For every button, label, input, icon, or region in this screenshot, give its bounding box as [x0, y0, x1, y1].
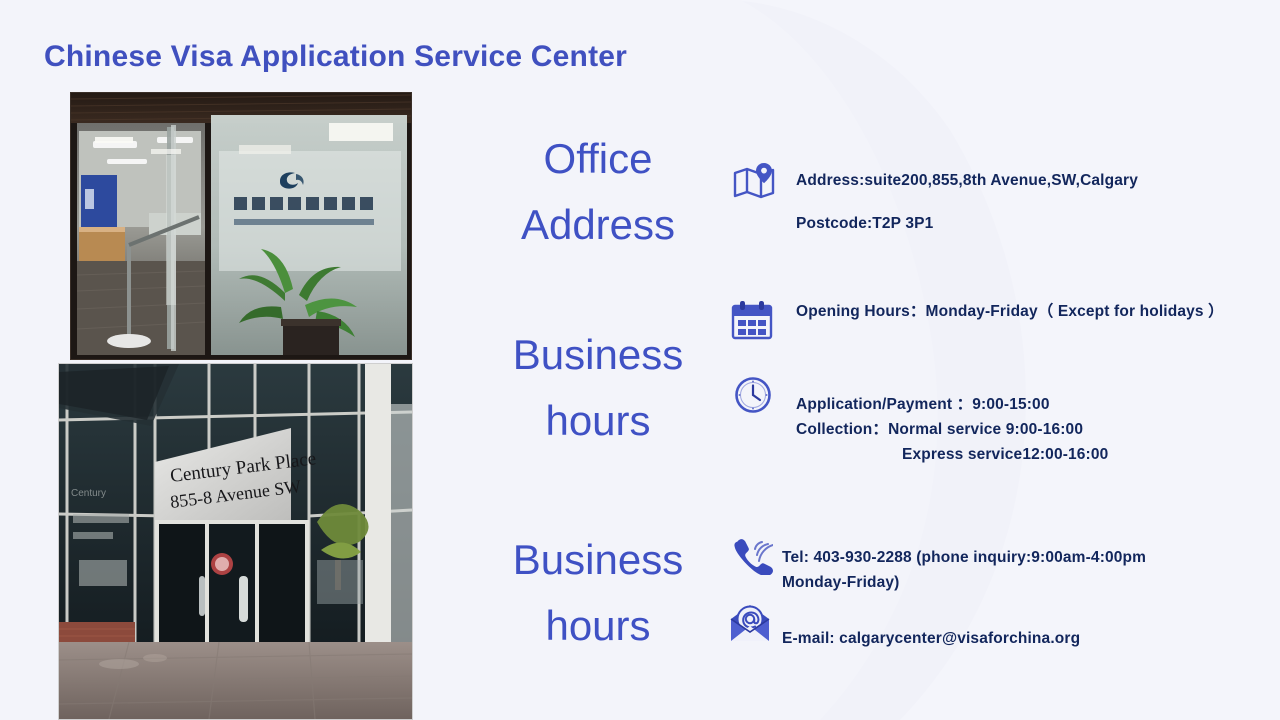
opening-hours-line: Opening Hours：Monday-Friday（ Except for …: [796, 299, 1221, 324]
telephone-text-block: Tel: 403-930-2288 (phone inquiry:9:00am-…: [782, 545, 1146, 595]
page-title: Chinese Visa Application Service Center: [44, 40, 627, 74]
office-interior-photo: [70, 92, 412, 360]
section-label-line1: Office: [448, 126, 748, 192]
phone-ringing-icon: [733, 537, 773, 580]
clock-icon: [733, 375, 773, 420]
section-label-line2: Address: [448, 192, 748, 258]
calendar-icon: [731, 300, 773, 345]
collection-express-line: Express service12:00-16:00: [796, 442, 1108, 467]
opening-hours-text-block: Opening Hours：Monday-Friday（ Except for …: [796, 299, 1221, 324]
address-text-block: Address:suite200,855,8th Avenue,SW,Calga…: [796, 168, 1138, 236]
email-line: E-mail: calgarycenter@visaforchina.org: [782, 626, 1080, 651]
service-hours-text-block: Application/Payment ：9:00-15:00 Collecti…: [796, 392, 1108, 467]
postcode-line: Postcode:T2P 3P1: [796, 211, 1138, 236]
telephone-line2: Monday-Friday): [782, 570, 1146, 595]
section-label-office-address: Office Address: [448, 126, 748, 259]
section-label-business-hours-1: Business hours: [448, 322, 748, 455]
application-payment-line: Application/Payment ：9:00-15:00: [796, 392, 1108, 417]
section-label-line2: hours: [448, 593, 748, 659]
svg-text:Century: Century: [71, 488, 106, 499]
collection-normal-line: Collection：Normal service 9:00-16:00: [796, 417, 1108, 442]
address-line: Address:suite200,855,8th Avenue,SW,Calga…: [796, 168, 1138, 193]
section-label-business-hours-2: Business hours: [448, 527, 748, 660]
map-pin-icon: [731, 163, 777, 206]
slide-canvas: Chinese Visa Application Service Center: [0, 0, 1280, 720]
building-exterior-photo: Century Park Place 855-8 Avenue SW: [58, 363, 413, 720]
spacer: [796, 193, 1138, 211]
email-at-icon: [727, 601, 773, 650]
section-label-line2: hours: [448, 388, 748, 454]
section-label-line1: Business: [448, 527, 748, 593]
section-label-line1: Business: [448, 322, 748, 388]
telephone-line1: Tel: 403-930-2288 (phone inquiry:9:00am-…: [782, 545, 1146, 570]
email-text-block: E-mail: calgarycenter@visaforchina.org: [782, 626, 1080, 651]
